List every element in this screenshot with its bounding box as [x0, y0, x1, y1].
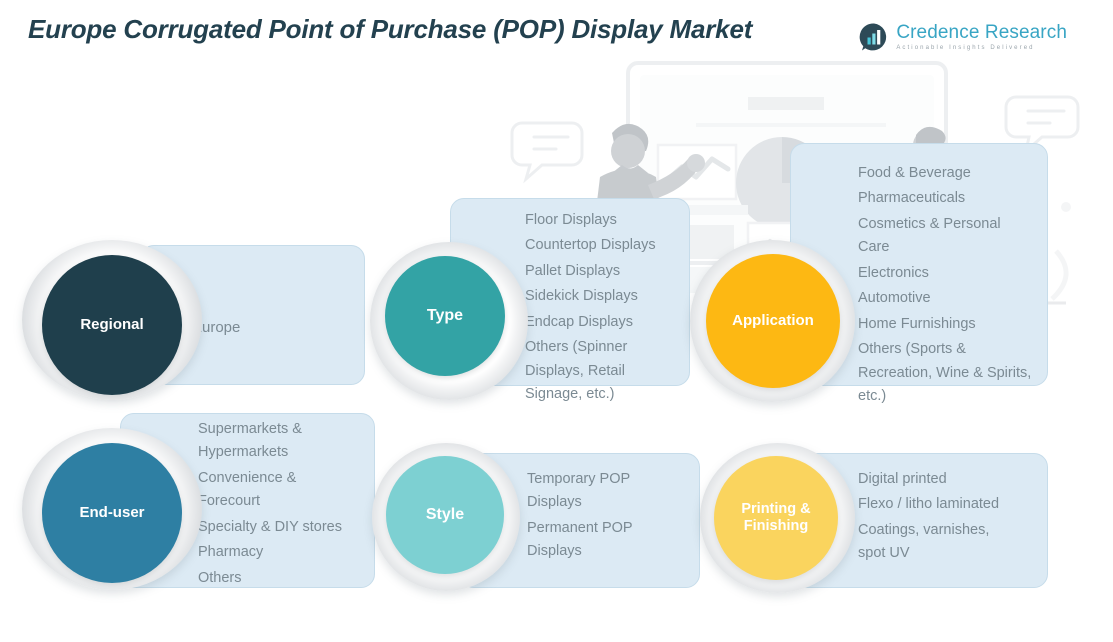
list-item: Home Furnishings — [858, 313, 1036, 336]
segment-label-type: Type — [427, 307, 463, 326]
segment-circle-type[interactable]: Type — [385, 256, 505, 376]
page-title: Europe Corrugated Point of Purchase (POP… — [28, 14, 752, 45]
list-item: Electronics — [858, 262, 1036, 285]
brand-tagline: Actionable Insights Delivered — [896, 45, 1067, 51]
list-item: Pallet Displays — [525, 260, 677, 283]
segment-label-printing-finishing: Printing & Finishing — [741, 501, 810, 535]
list-item: Specialty & DIY stores — [198, 516, 368, 539]
segment-items-style: Temporary POP Displays Permanent POP Dis… — [527, 468, 677, 564]
list-item: Permanent POP Displays — [527, 517, 677, 564]
list-item: Others (Sports & Recreation, Wine & Spir… — [858, 338, 1036, 408]
segment-circle-regional[interactable]: Regional — [42, 255, 182, 395]
list-item: Floor Displays — [525, 209, 677, 232]
list-item: Pharmaceuticals — [858, 187, 1036, 210]
list-item: Others (Spinner Displays, Retail Signage… — [525, 336, 677, 406]
segment-items-end-user: Supermarkets & Hypermarkets Convenience … — [198, 418, 368, 590]
infographic-canvas: Europe Regional Floor Displays Counterto… — [0, 0, 1113, 642]
list-item: Automotive — [858, 287, 1036, 310]
list-item: Food & Beverage — [858, 162, 1036, 185]
segment-items-printing-finishing: Digital printed Flexo / litho laminated … — [858, 468, 1043, 566]
list-item: Others — [198, 567, 368, 590]
list-item: Europe — [192, 316, 352, 340]
segment-label-application: Application — [732, 312, 814, 330]
chart-bubble-icon — [859, 22, 889, 52]
list-item: Digital printed — [858, 468, 1043, 491]
segment-items-application: Food & Beverage Pharmaceuticals Cosmetic… — [858, 162, 1036, 409]
list-item: Sidekick Displays — [525, 285, 677, 308]
segment-items-regional: Europe — [192, 316, 352, 340]
brand-logo-text: Credence Research Actionable Insights De… — [896, 23, 1067, 51]
list-item: Supermarkets & Hypermarkets — [198, 418, 368, 465]
segment-circle-style[interactable]: Style — [386, 456, 504, 574]
list-item: Convenience & Forecourt — [198, 467, 368, 514]
segment-label-regional: Regional — [80, 316, 143, 334]
list-item: Cosmetics & Personal Care — [858, 213, 1036, 260]
segment-items-type: Floor Displays Countertop Displays Palle… — [525, 209, 677, 407]
segment-circle-application[interactable]: Application — [706, 254, 840, 388]
list-item: Temporary POP Displays — [527, 468, 677, 515]
list-item: Pharmacy — [198, 541, 368, 564]
segment-circle-end-user[interactable]: End-user — [42, 443, 182, 583]
brand-logo: Credence Research Actionable Insights De… — [859, 22, 1067, 52]
list-item: Endcap Displays — [525, 311, 677, 334]
segment-circle-printing-finishing[interactable]: Printing & Finishing — [714, 456, 838, 580]
list-item: Countertop Displays — [525, 234, 677, 257]
brand-name: Credence Research — [896, 23, 1067, 42]
list-item: Coatings, varnishes, spot UV — [858, 519, 1043, 566]
list-item: Flexo / litho laminated — [858, 493, 1043, 516]
segment-label-style: Style — [426, 506, 464, 525]
segment-label-end-user: End-user — [79, 504, 144, 522]
